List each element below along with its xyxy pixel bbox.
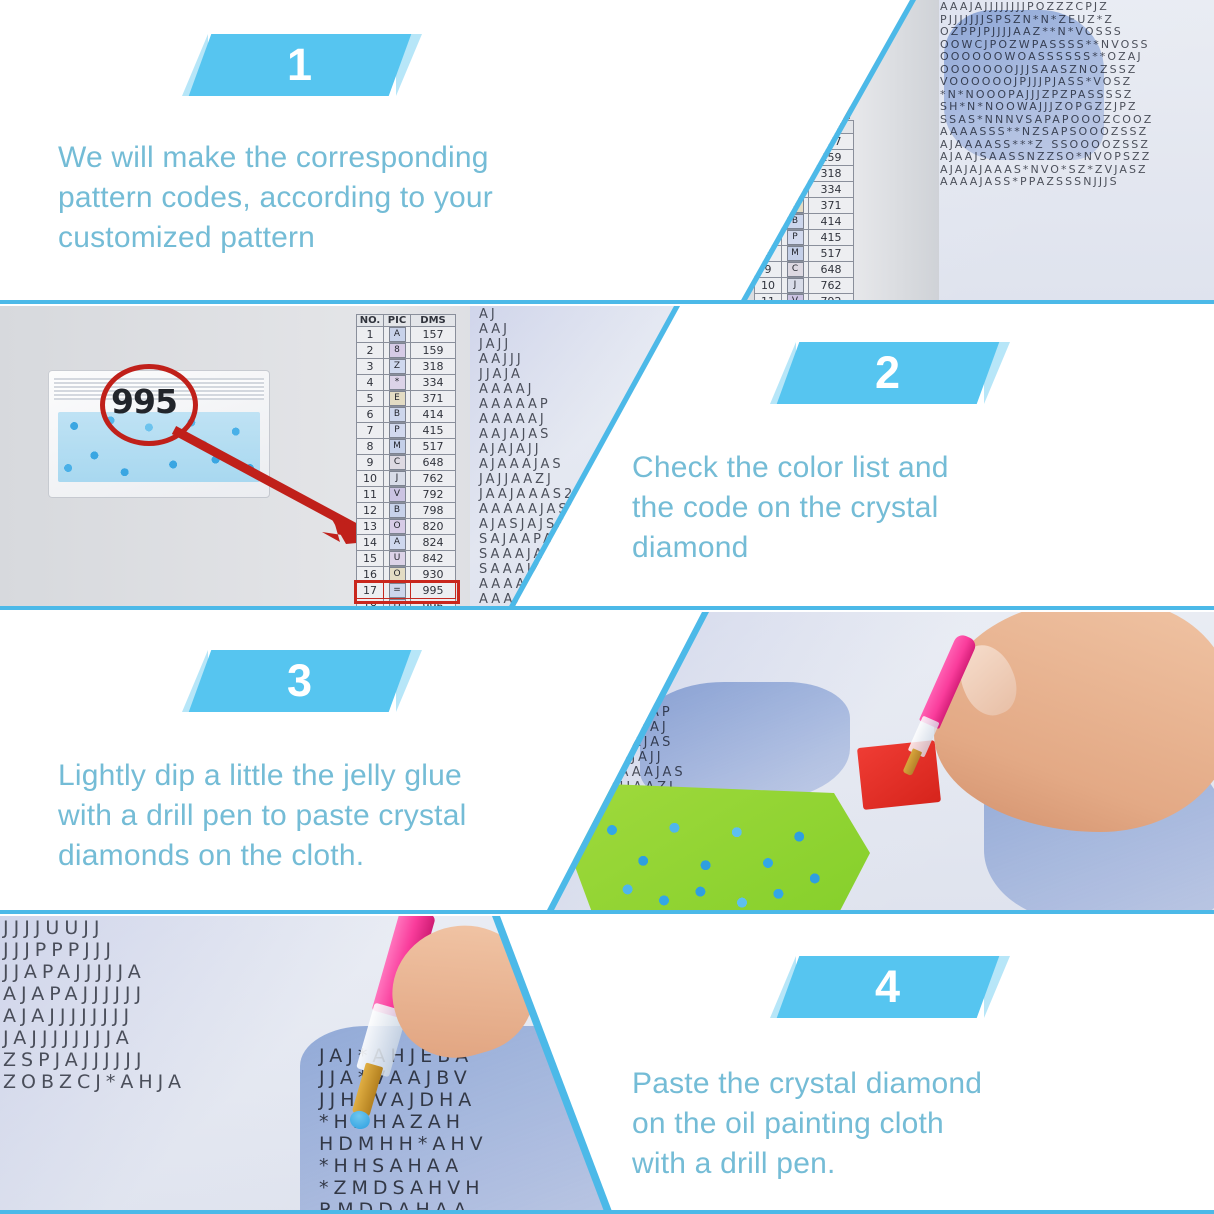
row-number: 5 bbox=[755, 198, 782, 214]
step-4-photo: JJJJUUJJ JJJPPPJJJ JJAPAJJJJJA AJAPAJJJJ… bbox=[0, 916, 620, 1214]
row-number: 16 bbox=[357, 567, 384, 583]
peacock-thumbnail-box bbox=[766, 4, 838, 106]
color-list-row: 9C648 bbox=[357, 455, 456, 471]
step-2-number: 2 bbox=[788, 342, 988, 404]
row-number: 4 bbox=[357, 375, 384, 391]
symbol-swatch: C bbox=[787, 262, 804, 277]
color-list-row: 3Z318 bbox=[357, 359, 456, 375]
row-dms-code: 995 bbox=[411, 583, 456, 599]
row-symbol: O bbox=[384, 567, 411, 583]
row-dms-code: 371 bbox=[411, 391, 456, 407]
row-symbol: P bbox=[782, 230, 809, 246]
symbol-swatch: * bbox=[389, 375, 406, 390]
row-dms-code: 762 bbox=[809, 278, 854, 294]
row-dms-code: 414 bbox=[809, 214, 854, 230]
row-symbol: U bbox=[384, 551, 411, 567]
divider-line-2 bbox=[0, 606, 1214, 610]
symbol-swatch: B bbox=[389, 407, 406, 422]
color-list-row: 11V792 bbox=[357, 487, 456, 503]
symbol-swatch: A bbox=[389, 327, 406, 342]
symbol-swatch: C bbox=[389, 455, 406, 470]
step-4-text-block: 4 Paste the crystal diamond on the oil p… bbox=[574, 916, 1214, 1214]
color-list-row: 12B798 bbox=[357, 503, 456, 519]
step-2-banner: 2 bbox=[788, 334, 1018, 404]
color-list-header-no: NO. bbox=[357, 315, 384, 327]
row-dms-code: 334 bbox=[411, 375, 456, 391]
symbol-swatch: Z bbox=[787, 166, 804, 181]
step-2-description: Check the color list and the code on the… bbox=[632, 448, 1132, 568]
printed-canvas: JJJJUUJJ JJJPPPJJJ JJAPAJJJJJA AJAPAJJJJ… bbox=[0, 916, 620, 1214]
color-list-row: 10J762 bbox=[357, 471, 456, 487]
row-number: 5 bbox=[357, 391, 384, 407]
infographic-board: AAAJAJJJJJJJJPOZZZCPJZ PJJJJJJJSPSZN*N*Z… bbox=[0, 0, 1214, 1214]
color-list-row: 15U842 bbox=[357, 551, 456, 567]
paint-zone bbox=[944, 10, 1104, 160]
step-1-number: 1 bbox=[200, 34, 400, 96]
color-list-table-short: NO.PICDMS 1A157281593Z3184*3345E3716B414… bbox=[754, 120, 854, 302]
row-number: 7 bbox=[357, 423, 384, 439]
color-list-header-dms: DMS bbox=[411, 315, 456, 327]
color-list-header-no: NO. bbox=[755, 121, 782, 134]
row-number: 2 bbox=[357, 343, 384, 359]
step-1-description: We will make the corresponding pattern c… bbox=[58, 138, 598, 258]
row-dms-code: 371 bbox=[809, 198, 854, 214]
row-symbol: 8 bbox=[782, 150, 809, 166]
row-dms-code: 930 bbox=[411, 567, 456, 583]
row-symbol: A bbox=[384, 535, 411, 551]
step-3-banner: 3 bbox=[200, 642, 430, 712]
row-dms-code: 415 bbox=[809, 230, 854, 246]
step-3-photo: AJ AAJ JAJJ AAJJJ JJAJA AAAAJ AAAAAP AAA… bbox=[540, 612, 1214, 912]
step-panel-1: AAAJAJJJJJJJJPOZZZCPJZ PJJJJJJJSPSZN*N*Z… bbox=[0, 0, 1214, 302]
row-dms-code: 842 bbox=[411, 551, 456, 567]
pen-tip bbox=[352, 1062, 384, 1117]
row-number: 1 bbox=[357, 327, 384, 343]
step-3-text-block: 3 Lightly dip a little the jelly glue wi… bbox=[0, 612, 640, 912]
color-list-row: 5E371 bbox=[755, 198, 854, 214]
step-3-number: 3 bbox=[200, 650, 400, 712]
color-list-row: 7P415 bbox=[357, 423, 456, 439]
row-number: 14 bbox=[357, 535, 384, 551]
row-symbol: V bbox=[384, 487, 411, 503]
symbol-swatch: M bbox=[787, 246, 804, 261]
row-symbol: E bbox=[384, 391, 411, 407]
divider-line-4 bbox=[0, 1210, 1214, 1214]
row-dms-code: 762 bbox=[411, 471, 456, 487]
symbol-swatch: O bbox=[389, 519, 406, 534]
step-panel-3: AJ AAJ JAJJ AAJJJ JJAJA AAAAJ AAAAAP AAA… bbox=[0, 612, 1214, 912]
symbol-swatch: E bbox=[389, 391, 406, 406]
color-list-header-pic: PIC bbox=[782, 121, 809, 134]
row-symbol: P bbox=[384, 423, 411, 439]
row-number: 10 bbox=[755, 278, 782, 294]
color-list-body: 1A157281593Z3184*3345E3716B4147P4158M517… bbox=[357, 327, 456, 609]
step-4-description: Paste the crystal diamond on the oil pai… bbox=[632, 1064, 1132, 1184]
step-1-banner: 1 bbox=[200, 26, 430, 96]
symbol-swatch: A bbox=[787, 134, 804, 149]
color-list-table-full: NO.PICDMS 1A157281593Z3184*3345E3716B414… bbox=[356, 314, 456, 608]
row-dms-code: 798 bbox=[411, 503, 456, 519]
row-dms-code: 517 bbox=[809, 246, 854, 262]
row-symbol: J bbox=[782, 278, 809, 294]
step-2-text-block: 2 Check the color list and the code on t… bbox=[574, 306, 1214, 608]
color-list-row: 9C648 bbox=[755, 262, 854, 278]
color-list-header-row: NO.PICDMS bbox=[357, 315, 456, 327]
color-list-row: 1A157 bbox=[357, 327, 456, 343]
symbol-swatch: V bbox=[389, 487, 406, 502]
peacock-image bbox=[775, 23, 827, 101]
divider-line-1 bbox=[0, 300, 1214, 304]
color-list-row: 28159 bbox=[357, 343, 456, 359]
step-1-photo: AAAJAJJJJJJJJPOZZZCPJZ PJJJJJJJSPSZN*N*Z… bbox=[734, 0, 1214, 302]
color-list-row: 7P415 bbox=[755, 230, 854, 246]
color-list-row: 10J762 bbox=[755, 278, 854, 294]
row-number: 3 bbox=[357, 359, 384, 375]
row-number: 11 bbox=[357, 487, 384, 503]
row-number: 9 bbox=[357, 455, 384, 471]
color-list-row: 8M517 bbox=[357, 439, 456, 455]
row-dms-code: 318 bbox=[411, 359, 456, 375]
symbol-swatch: O bbox=[389, 567, 406, 582]
row-symbol: M bbox=[782, 246, 809, 262]
color-list-title: COLOR LIST bbox=[754, 97, 850, 119]
color-list-row: 5E371 bbox=[357, 391, 456, 407]
row-symbol: Z bbox=[782, 166, 809, 182]
row-dms-code: 414 bbox=[411, 407, 456, 423]
row-number: 2 bbox=[755, 150, 782, 166]
divider-line-3 bbox=[0, 910, 1214, 914]
row-dms-code: 415 bbox=[411, 423, 456, 439]
color-list-row: 17=995 bbox=[357, 583, 456, 599]
row-dms-code: 157 bbox=[411, 327, 456, 343]
step-panel-4: JJJJUUJJ JJJPPPJJJ JJAPAJJJJJA AJAPAJJJJ… bbox=[0, 916, 1214, 1214]
row-number: 4 bbox=[755, 182, 782, 198]
color-list-row: 6B414 bbox=[357, 407, 456, 423]
row-number: 15 bbox=[357, 551, 384, 567]
row-symbol: 8 bbox=[384, 343, 411, 359]
symbol-swatch: A bbox=[389, 535, 406, 550]
row-number: 1 bbox=[755, 134, 782, 150]
bag-code-label: 995 bbox=[104, 382, 184, 421]
symbol-swatch: J bbox=[787, 278, 804, 293]
step-panel-2: AJ AAJ JAJJ AAJJJ JJAJA AAAAJ AAAAAP AAA… bbox=[0, 306, 1214, 608]
row-number: 6 bbox=[755, 214, 782, 230]
row-symbol: J bbox=[384, 471, 411, 487]
row-number: 3 bbox=[755, 166, 782, 182]
row-dms-code: 824 bbox=[411, 535, 456, 551]
row-symbol: * bbox=[384, 375, 411, 391]
row-dms-code: 334 bbox=[809, 182, 854, 198]
color-list-row: 4*334 bbox=[357, 375, 456, 391]
color-list-row: 6B414 bbox=[755, 214, 854, 230]
symbol-swatch: B bbox=[389, 503, 406, 518]
paint-zone bbox=[640, 682, 850, 802]
row-number: 6 bbox=[357, 407, 384, 423]
row-symbol: Z bbox=[384, 359, 411, 375]
row-number: 13 bbox=[357, 519, 384, 535]
symbol-swatch: 8 bbox=[787, 150, 804, 165]
symbol-swatch: P bbox=[389, 423, 406, 438]
symbol-swatch: U bbox=[389, 551, 406, 566]
step-3-description: Lightly dip a little the jelly glue with… bbox=[58, 756, 598, 876]
color-list-row: 28159 bbox=[755, 150, 854, 166]
symbol-swatch: P bbox=[787, 230, 804, 245]
row-dms-code: 159 bbox=[411, 343, 456, 359]
color-list-header-pic: PIC bbox=[384, 315, 411, 327]
symbol-swatch: M bbox=[389, 439, 406, 454]
row-dms-code: 159 bbox=[809, 150, 854, 166]
color-list-row: 3Z318 bbox=[755, 166, 854, 182]
symbol-swatch: J bbox=[389, 471, 406, 486]
row-dms-code: 820 bbox=[411, 519, 456, 535]
row-symbol: = bbox=[384, 583, 411, 599]
step-4-number: 4 bbox=[788, 956, 988, 1018]
row-symbol: C bbox=[384, 455, 411, 471]
row-dms-code: 648 bbox=[411, 455, 456, 471]
row-symbol: B bbox=[384, 503, 411, 519]
row-symbol: O bbox=[384, 519, 411, 535]
row-number: 10 bbox=[357, 471, 384, 487]
row-symbol: A bbox=[782, 134, 809, 150]
color-list-row: 16O930 bbox=[357, 567, 456, 583]
step-1-text-block: 1 We will make the corresponding pattern… bbox=[0, 0, 640, 302]
row-dms-code: 792 bbox=[411, 487, 456, 503]
row-dms-code: 517 bbox=[411, 439, 456, 455]
step-4-banner: 4 bbox=[788, 948, 1018, 1018]
row-number: 12 bbox=[357, 503, 384, 519]
color-list-body: 1A157281593Z3184*3345E3716B4147P4158M517… bbox=[755, 134, 854, 303]
symbol-swatch: 8 bbox=[389, 343, 406, 358]
row-symbol: C bbox=[782, 262, 809, 278]
row-number: 17 bbox=[357, 583, 384, 599]
row-symbol: M bbox=[384, 439, 411, 455]
color-list-row: 13O820 bbox=[357, 519, 456, 535]
row-dms-code: 648 bbox=[809, 262, 854, 278]
row-number: 8 bbox=[357, 439, 384, 455]
row-symbol: A bbox=[384, 327, 411, 343]
symbol-swatch: = bbox=[389, 583, 406, 598]
row-symbol: B bbox=[384, 407, 411, 423]
symbol-swatch: Z bbox=[389, 359, 406, 374]
pen-tip bbox=[902, 748, 922, 776]
color-list-row: 14A824 bbox=[357, 535, 456, 551]
